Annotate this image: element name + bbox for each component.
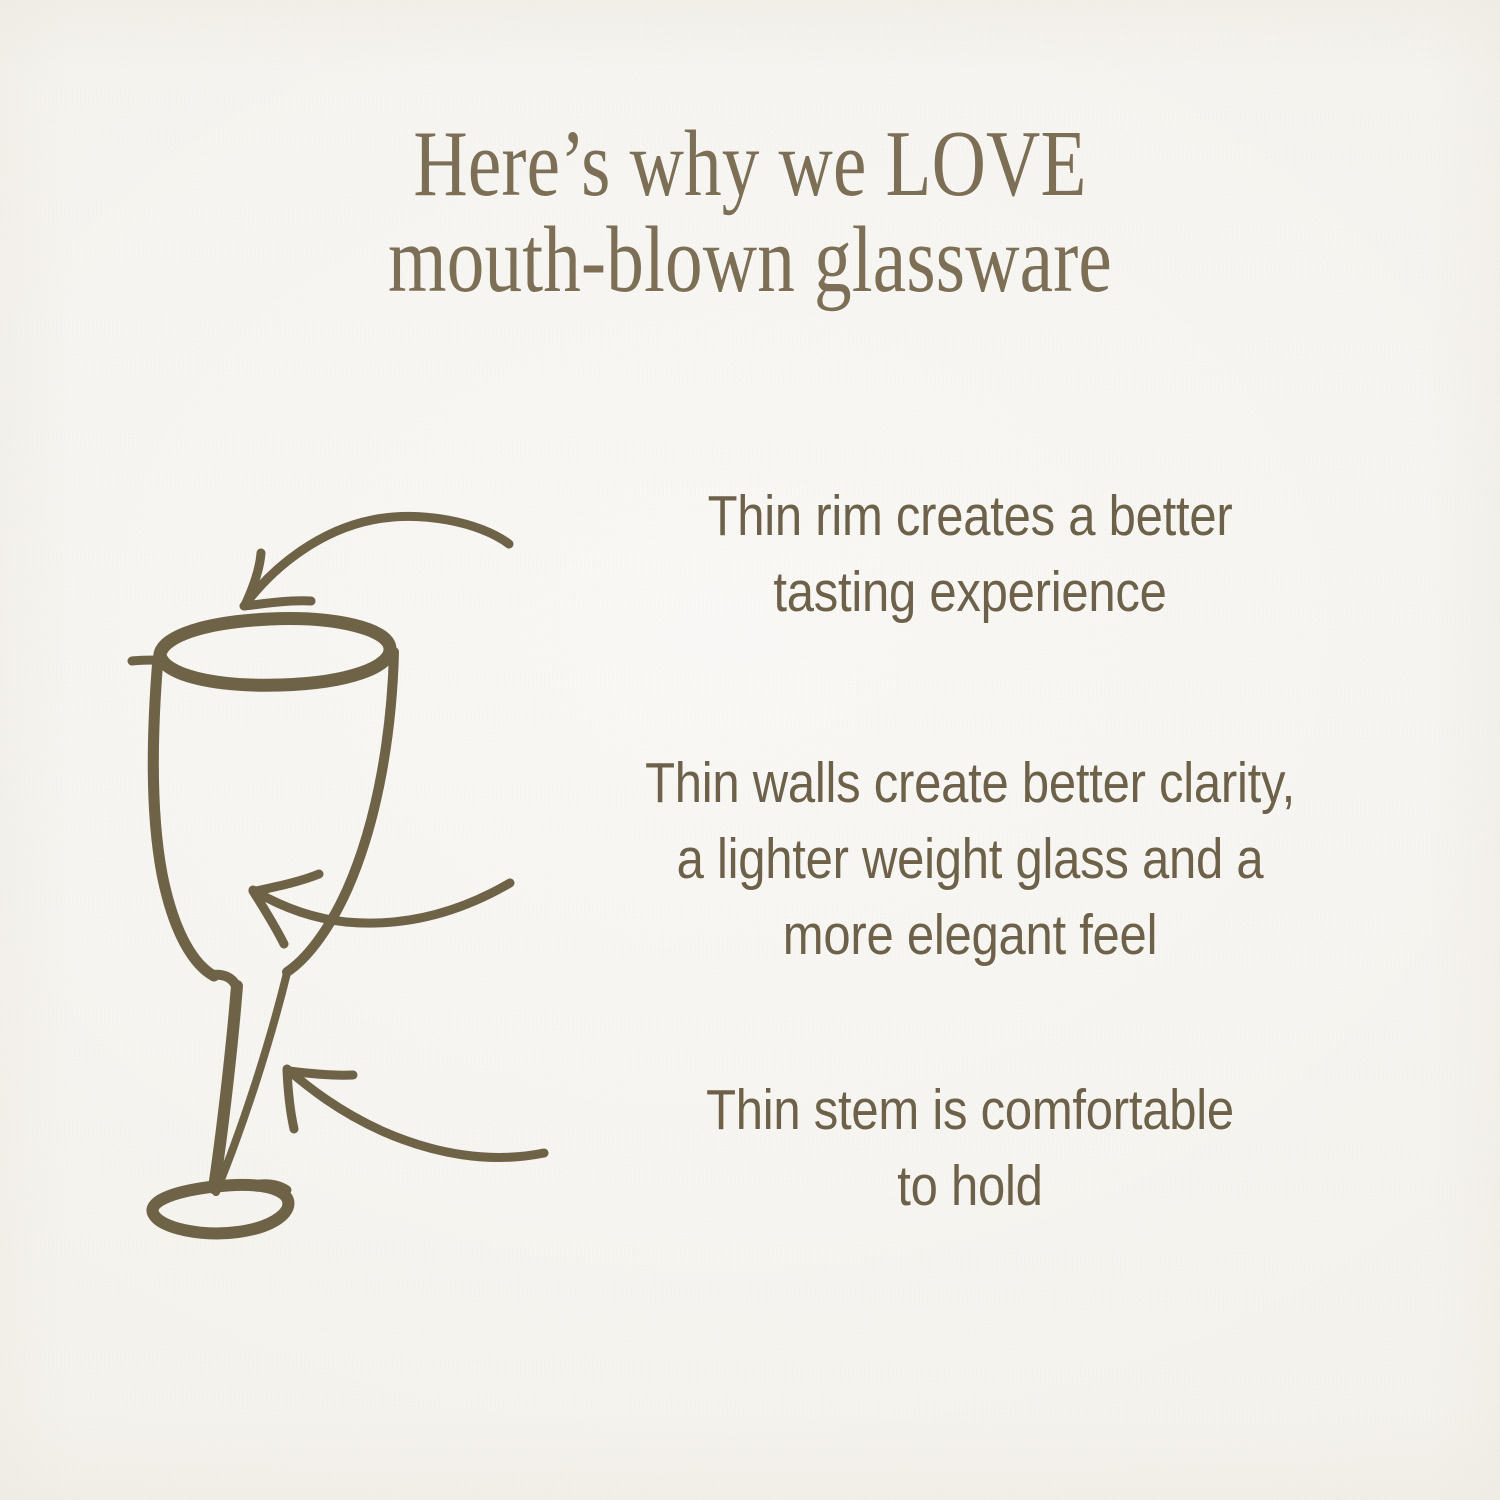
- callout-stem: Thin stem is comfortable to hold: [622, 1072, 1319, 1224]
- arrow-to-stem-icon: [287, 1069, 544, 1157]
- callout-walls-line-2: a lighter weight glass and a: [583, 821, 1357, 897]
- arrow-to-walls-icon: [253, 874, 510, 944]
- callout-stem-line-1: Thin stem is comfortable: [622, 1072, 1319, 1148]
- page-title: Here’s why we LOVE mouth-blown glassware: [150, 116, 1350, 308]
- callout-rim-line-1: Thin rim creates a better: [622, 478, 1319, 554]
- callout-walls-line-3: more elegant feel: [583, 897, 1357, 973]
- glass-base: [153, 1185, 289, 1234]
- bowl-left-wall: [153, 658, 214, 976]
- callout-rim: Thin rim creates a better tasting experi…: [622, 478, 1319, 630]
- callout-stem-line-2: to hold: [622, 1148, 1319, 1224]
- callout-walls-line-1: Thin walls create better clarity,: [583, 745, 1357, 821]
- glass-rim: [160, 619, 390, 686]
- arrow-to-rim-icon: [244, 516, 509, 606]
- page-title-line-2: mouth-blown glassware: [150, 212, 1350, 308]
- callout-walls: Thin walls create better clarity, a ligh…: [583, 745, 1357, 973]
- callout-rim-line-2: tasting experience: [622, 554, 1319, 630]
- infographic-canvas: Here’s why we LOVE mouth-blown glassware: [0, 0, 1500, 1500]
- page-title-line-1: Here’s why we LOVE: [150, 116, 1350, 212]
